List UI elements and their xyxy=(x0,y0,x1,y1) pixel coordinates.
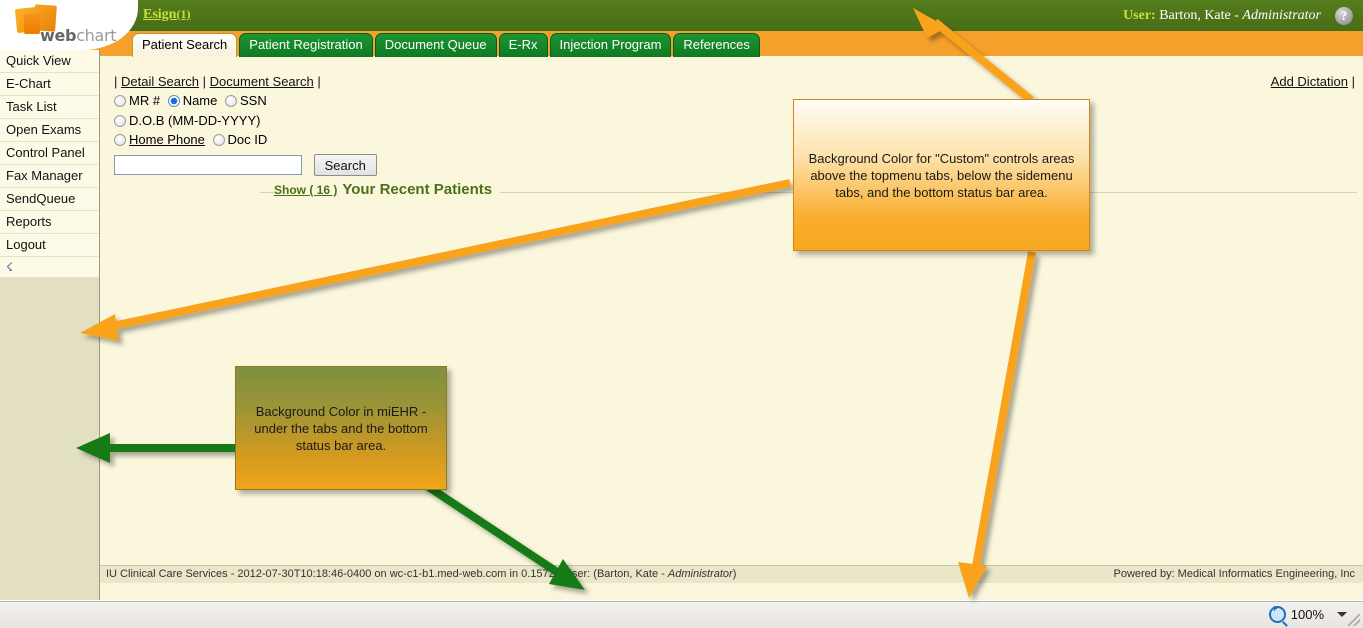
plug-icon: ☇ xyxy=(6,257,13,277)
search-input[interactable] xyxy=(114,155,302,175)
radio-home-phone-input[interactable] xyxy=(114,134,126,146)
breadcrumb-post: | xyxy=(314,74,321,89)
top-menu-tabs: Patient Search Patient Registration Docu… xyxy=(132,33,762,57)
sidebar-item-task-list[interactable]: Task List xyxy=(0,96,99,119)
radio-option-ssn[interactable]: SSN xyxy=(225,93,267,108)
tab-patient-search[interactable]: Patient Search xyxy=(132,33,237,57)
esign-label: Esign xyxy=(143,7,176,22)
status-role: Administrator xyxy=(668,568,733,580)
window-resize-grip[interactable] xyxy=(1348,614,1360,626)
zoom-in-icon xyxy=(1269,606,1286,623)
radio-option-dob[interactable]: D.O.B (MM-DD-YYYY) xyxy=(114,113,260,128)
radio-option-name[interactable]: Name xyxy=(168,93,218,108)
zoom-control[interactable]: 100% xyxy=(1269,606,1347,623)
radio-doc-id-label: Doc ID xyxy=(228,132,268,147)
search-type-row-1: MR # Name SSN xyxy=(114,93,271,108)
sidebar-item-control-panel[interactable]: Control Panel xyxy=(0,142,99,165)
tab-references[interactable]: References xyxy=(673,33,759,57)
search-button[interactable]: Search xyxy=(314,154,377,176)
sidebar-item-quick-view[interactable]: Quick View xyxy=(0,50,99,73)
sidebar-menu: Quick View E-Chart Task List Open Exams … xyxy=(0,50,99,278)
sidebar-item-sendqueue[interactable]: SendQueue xyxy=(0,188,99,211)
status-left-text: IU Clinical Care Services - 2012-07-30T1… xyxy=(106,568,736,580)
callout-custom-background: Background Color for "Custom" controls a… xyxy=(793,99,1090,251)
help-icon[interactable]: ? xyxy=(1335,7,1353,25)
tab-document-queue[interactable]: Document Queue xyxy=(375,33,497,57)
sidebar-item-fax-manager[interactable]: Fax Manager xyxy=(0,165,99,188)
status-powered-by: Powered by: Medical Informatics Engineer… xyxy=(1113,568,1355,580)
add-dictation-post: | xyxy=(1348,74,1355,89)
tab-e-rx[interactable]: E-Rx xyxy=(499,33,548,57)
user-label: User: xyxy=(1123,8,1156,23)
radio-option-mr[interactable]: MR # xyxy=(114,93,160,108)
radio-name-label: Name xyxy=(183,93,218,108)
sidebar-item-open-exams[interactable]: Open Exams xyxy=(0,119,99,142)
search-row: Search xyxy=(114,154,377,176)
tab-injection-program[interactable]: Injection Program xyxy=(550,33,672,57)
browser-zoom-bar: 100% xyxy=(0,601,1363,628)
esign-link[interactable]: Esign(1) xyxy=(143,7,190,23)
callout-miehr-background: Background Color in miEHR - under the ta… xyxy=(235,366,447,490)
sidebar-item-reports[interactable]: Reports xyxy=(0,211,99,234)
radio-ssn-input[interactable] xyxy=(225,95,237,107)
breadcrumb: | Detail Search | Document Search | xyxy=(114,74,321,89)
logo-square-3 xyxy=(24,14,40,34)
logo-wordmark: webchart xyxy=(40,26,116,45)
recent-header: Show ( 16 )Your Recent Patients xyxy=(274,181,500,198)
sidebar-item-plugin[interactable]: ☇ xyxy=(0,257,99,278)
search-type-row-3: Home Phone Doc ID xyxy=(114,132,271,147)
radio-ssn-label: SSN xyxy=(240,93,267,108)
sidebar-item-logout[interactable]: Logout xyxy=(0,234,99,257)
search-type-row-2: D.O.B (MM-DD-YYYY) xyxy=(114,113,264,128)
logo-chart: chart xyxy=(76,26,116,45)
radio-dob-input[interactable] xyxy=(114,115,126,127)
radio-doc-id-input[interactable] xyxy=(213,134,225,146)
user-role: Administrator xyxy=(1242,8,1321,23)
document-search-link[interactable]: Document Search xyxy=(210,74,314,89)
chevron-down-icon[interactable] xyxy=(1337,612,1347,617)
detail-search-link[interactable]: Detail Search xyxy=(121,74,199,89)
status-session-info: IU Clinical Care Services - 2012-07-30T1… xyxy=(106,568,668,580)
radio-option-doc-id[interactable]: Doc ID xyxy=(213,132,268,147)
esign-count: (1) xyxy=(176,7,190,21)
sidebar: Quick View E-Chart Task List Open Exams … xyxy=(0,50,100,600)
user-info: User: Barton, Kate - Administrator xyxy=(1123,8,1321,24)
add-dictation: Add Dictation | xyxy=(1271,74,1355,89)
breadcrumb-pre: | xyxy=(114,74,121,89)
radio-dob-label: D.O.B (MM-DD-YYYY) xyxy=(129,113,260,128)
radio-mr-input[interactable] xyxy=(114,95,126,107)
radio-mr-label: MR # xyxy=(129,93,160,108)
zoom-level: 100% xyxy=(1291,607,1324,622)
main-content: | Detail Search | Document Search | Add … xyxy=(100,56,1363,583)
show-recent-link[interactable]: Show ( 16 ) xyxy=(274,183,337,197)
user-name: Barton, Kate - xyxy=(1156,8,1243,23)
add-dictation-link[interactable]: Add Dictation xyxy=(1271,74,1348,89)
sidebar-item-e-chart[interactable]: E-Chart xyxy=(0,73,99,96)
recent-patients-title: Your Recent Patients xyxy=(342,181,492,198)
status-tail: ) xyxy=(733,568,737,580)
browser-viewport: Esign(1) User: Barton, Kate - Administra… xyxy=(0,0,1363,600)
radio-option-home-phone[interactable]: Home Phone xyxy=(114,132,205,147)
logo-web: web xyxy=(40,26,76,45)
radio-name-input[interactable] xyxy=(168,95,180,107)
tab-patient-registration[interactable]: Patient Registration xyxy=(239,33,372,57)
status-bar: IU Clinical Care Services - 2012-07-30T1… xyxy=(100,565,1363,583)
breadcrumb-mid: | xyxy=(199,74,210,89)
radio-home-phone-label: Home Phone xyxy=(129,132,205,147)
